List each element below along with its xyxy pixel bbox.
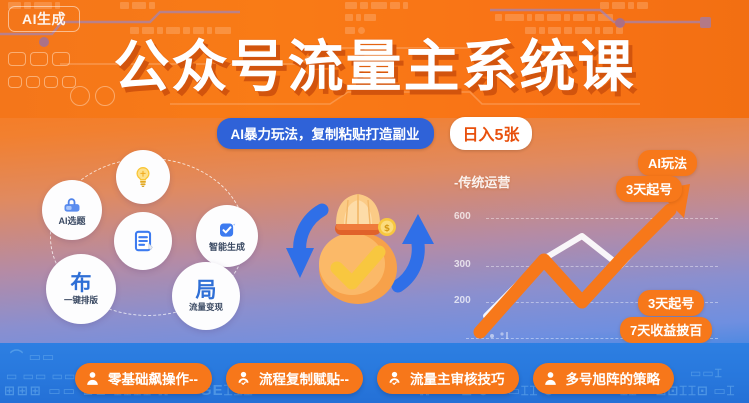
ai-generated-badge: AI生成 bbox=[8, 6, 80, 32]
person-check-icon bbox=[386, 370, 403, 387]
diagram-node-monetize[interactable]: 局 流量变现 bbox=[172, 262, 240, 330]
chart-annotation-7day: 7天收益披百 bbox=[620, 317, 712, 343]
diagram-node-document[interactable] bbox=[114, 212, 172, 270]
lightbulb-icon bbox=[130, 165, 156, 189]
money-bag-check-icon: $ bbox=[278, 182, 438, 317]
diagram-node-idea[interactable] bbox=[116, 150, 170, 204]
feature-button-3[interactable]: 多号旭阵的策略 bbox=[533, 363, 675, 394]
feature-button-1[interactable]: 流程复制赋贴-- bbox=[226, 363, 363, 394]
chart-annotation-3day-top: 3天起号 bbox=[616, 176, 682, 202]
document-edit-icon bbox=[130, 228, 156, 254]
smart-generate-icon bbox=[216, 220, 238, 241]
diagram-node-ai-topic[interactable]: AI选题 bbox=[42, 180, 102, 240]
diagram-node-big-label: 局 bbox=[196, 280, 217, 301]
workflow-diagram: AI选题 智能生成 布 一键排版 局 流量变现 bbox=[28, 150, 278, 325]
person-icon bbox=[542, 370, 559, 387]
growth-chart: -传统运营 600 300 200 AI玩法 3天起号 3天起号 7天收益披百 bbox=[442, 150, 742, 350]
svg-text:$: $ bbox=[384, 224, 390, 234]
subtitle-row: AI暴力玩法，复制粘贴打造副业 日入5张 bbox=[0, 117, 749, 150]
feature-button-2[interactable]: 流量主审核技巧 bbox=[377, 363, 519, 394]
diagram-node-big-label: 布 bbox=[71, 273, 92, 294]
feature-button-0[interactable]: 零基础飙操作-- bbox=[75, 363, 212, 394]
poster-canvas: AI生成 公众号流量主系统课 AI暴力玩法，复制粘贴打造副业 日入5张 bbox=[0, 0, 749, 403]
diagram-node-sub-label: 流量变现 bbox=[189, 303, 223, 312]
feature-button-label: 多号旭阵的策略 bbox=[566, 368, 661, 388]
person-icon bbox=[84, 370, 101, 387]
feature-button-label: 流程复制赋贴-- bbox=[259, 368, 349, 388]
diagram-node-layout[interactable]: 布 一键排版 bbox=[46, 254, 116, 324]
ai-topic-icon bbox=[61, 195, 83, 215]
chart-annotation-ai-method: AI玩法 bbox=[638, 150, 697, 176]
highlight-pill: 日入5张 bbox=[450, 117, 533, 150]
feature-button-row: 零基础飙操作-- 流程复制赋贴-- 流量主审核技巧 bbox=[0, 363, 749, 394]
diagram-node-smart-gen[interactable]: 智能生成 bbox=[196, 205, 258, 267]
person-check-icon bbox=[235, 370, 252, 387]
chart-annotation-3day-bottom: 3天起号 bbox=[638, 290, 704, 316]
feature-button-label: 零基础飙操作-- bbox=[108, 368, 198, 388]
diagram-node-label: AI选题 bbox=[58, 217, 85, 226]
page-title: 公众号流量主系统课 bbox=[0, 40, 749, 96]
money-bag-illustration: $ bbox=[278, 182, 438, 317]
diagram-node-label: 智能生成 bbox=[209, 243, 245, 252]
feature-button-label: 流量主审核技巧 bbox=[410, 368, 505, 388]
subtitle-pill: AI暴力玩法，复制粘贴打造副业 bbox=[217, 118, 434, 149]
diagram-node-sub-label: 一键排版 bbox=[64, 296, 98, 305]
